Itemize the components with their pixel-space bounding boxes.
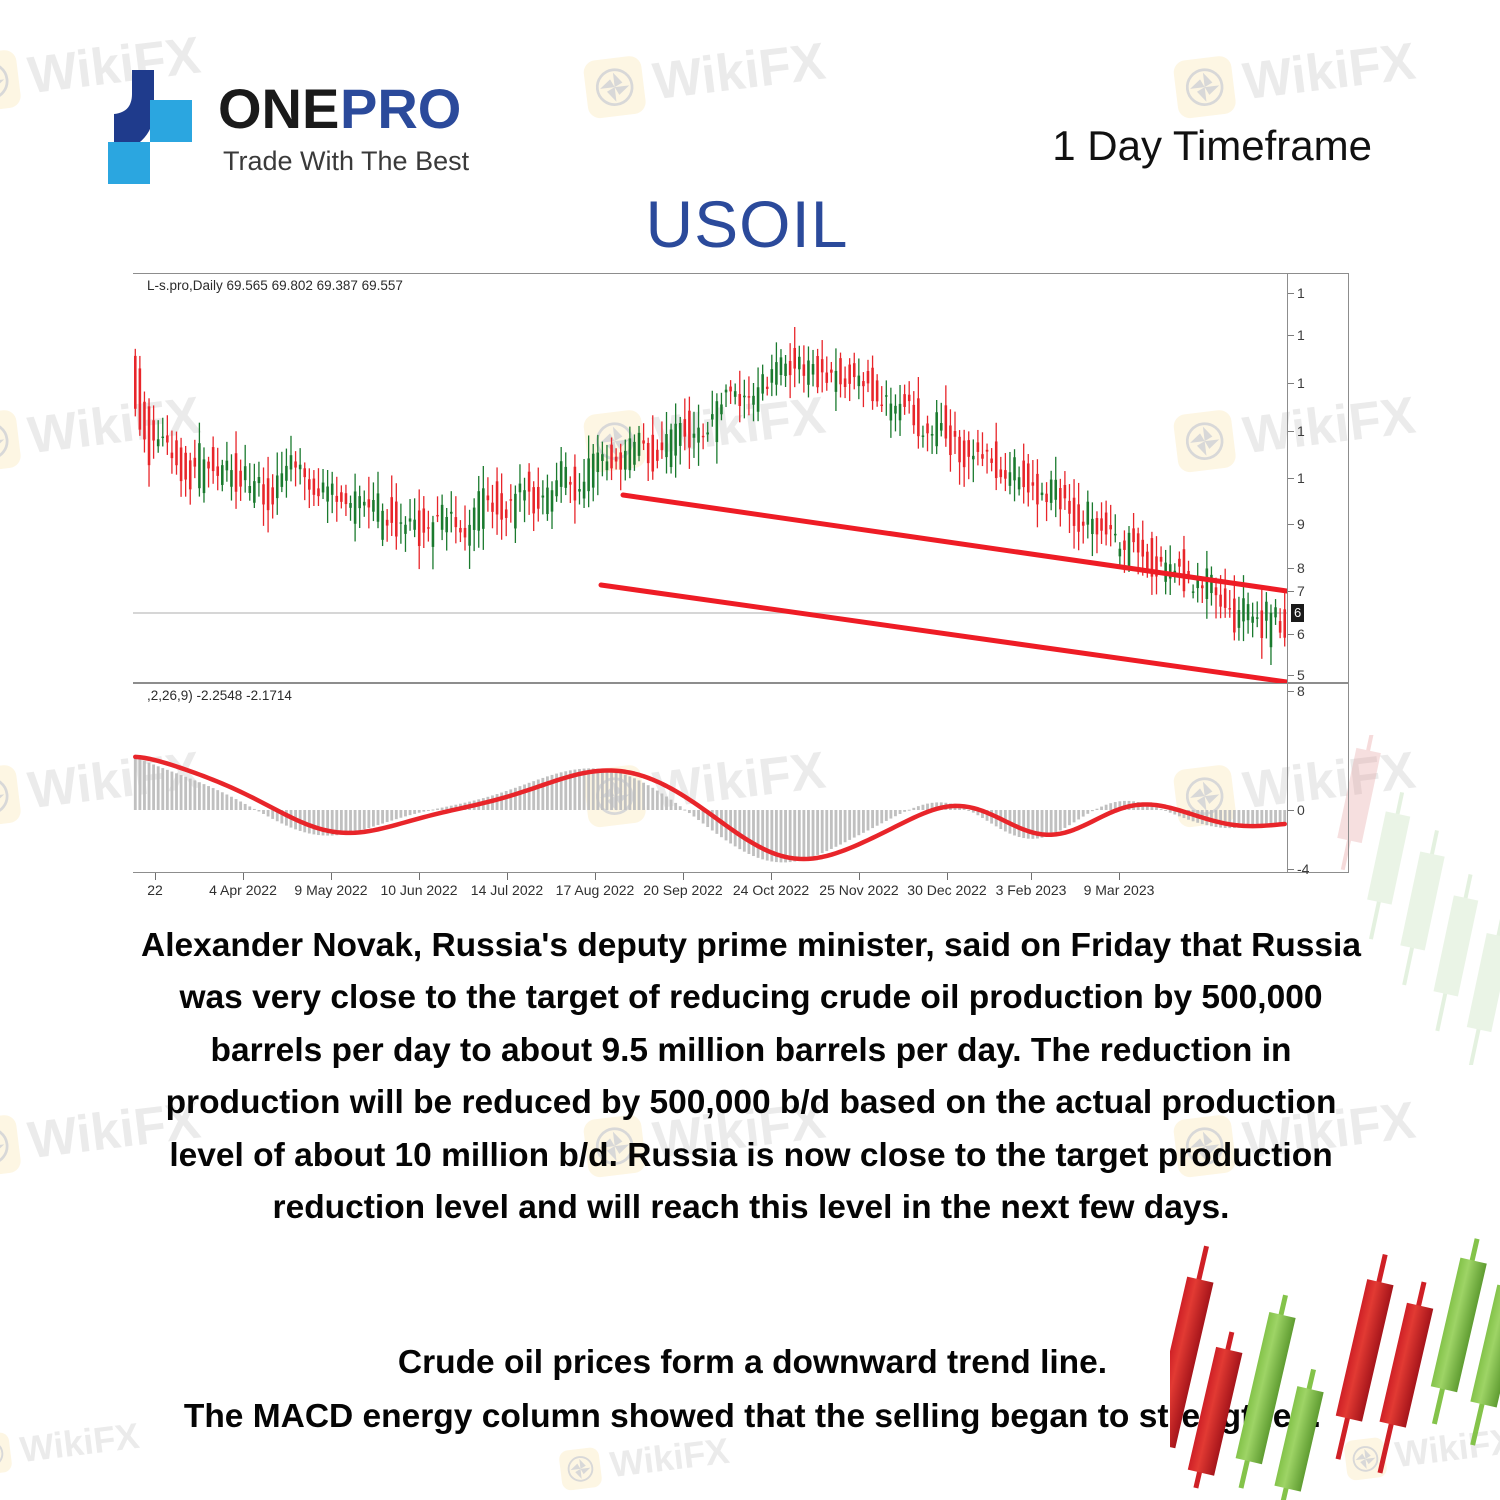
wikifx-badge-icon	[0, 1114, 22, 1179]
price-tick-label: 1	[1297, 375, 1305, 391]
macd-tick	[1288, 810, 1294, 811]
summary-line-1: Crude oil prices form a downward trend l…	[170, 1336, 1335, 1390]
summary-block: Crude oil prices form a downward trend l…	[170, 1336, 1335, 1445]
date-tick	[331, 873, 332, 880]
news-paragraph: Alexander Novak, Russia's deputy prime m…	[140, 920, 1362, 1235]
price-tick	[1288, 524, 1294, 525]
price-pane-label: L-s.pro,Daily 69.565 69.802 69.387 69.55…	[147, 278, 403, 293]
symbol-text: USOIL	[645, 186, 848, 262]
price-plot[interactable]	[133, 273, 1287, 683]
date-label: 4 Apr 2022	[209, 882, 277, 898]
svg-text:Trade With The Best: Trade With The Best	[223, 146, 470, 176]
price-tick	[1288, 293, 1294, 294]
date-label: 9 May 2022	[294, 882, 367, 898]
wikifx-badge-icon	[0, 764, 22, 829]
date-label: 10 Jun 2022	[380, 882, 457, 898]
macd-tick-label: 0	[1297, 802, 1305, 818]
wikifx-badge-icon	[582, 55, 647, 120]
date-tick	[859, 873, 860, 880]
date-tick	[771, 873, 772, 880]
date-tick	[683, 873, 684, 880]
price-tick	[1288, 383, 1294, 384]
price-tick-label: 1	[1297, 470, 1305, 486]
onepro-logo: ONE PRO Trade With The Best	[78, 52, 478, 192]
watermark-wikifx: WikiFX	[1172, 32, 1418, 121]
macd-tick	[1288, 869, 1294, 870]
macd-pane[interactable]: ,2,26,9) -2.2548 -2.1714 8 0 -4	[133, 683, 1349, 873]
price-pane[interactable]: L-s.pro,Daily 69.565 69.802 69.387 69.55…	[133, 273, 1349, 683]
price-tick-label: 1	[1297, 327, 1305, 343]
watermark-label: WikiFX	[1393, 1420, 1500, 1476]
date-label: 14 Jul 2022	[471, 882, 543, 898]
timeframe-label: 1 Day Timeframe	[1052, 122, 1372, 170]
price-tick-label: 7	[1297, 583, 1305, 599]
macd-scale[interactable]: 8 0 -4	[1287, 683, 1349, 873]
wikifx-badge-icon	[1172, 55, 1237, 120]
price-tick	[1288, 568, 1294, 569]
price-tick	[1288, 591, 1294, 592]
price-tick	[1288, 675, 1294, 676]
macd-plot[interactable]	[133, 683, 1287, 873]
summary-line-2: The MACD energy column showed that the s…	[170, 1390, 1335, 1444]
date-tick	[243, 873, 244, 880]
price-tick-label: 5	[1297, 667, 1305, 683]
date-label: 9 Mar 2023	[1084, 882, 1155, 898]
wikifx-badge-icon	[0, 409, 22, 474]
svg-text:PRO: PRO	[340, 77, 461, 140]
date-tick	[947, 873, 948, 880]
date-label: 22	[147, 882, 163, 898]
macd-tick	[1288, 691, 1294, 692]
date-tick	[1031, 873, 1032, 880]
price-scale[interactable]: 1 1 1 1 1 9 8 7 6 6 5	[1287, 273, 1349, 683]
date-tick	[1119, 873, 1120, 880]
date-tick	[155, 873, 156, 880]
watermark-label: WikiFX	[18, 1415, 142, 1471]
current-price-flag: 6	[1291, 604, 1304, 622]
price-tick-label: 8	[1297, 560, 1305, 576]
watermark-wikifx: WikiFX	[582, 32, 828, 121]
date-label: 24 Oct 2022	[733, 882, 809, 898]
wikifx-badge-icon	[1343, 1437, 1388, 1482]
date-tick	[595, 873, 596, 880]
date-axis-rail: 22 4 Apr 2022 9 May 2022 10 Jun 2022 14 …	[133, 873, 1287, 911]
wikifx-badge-icon	[0, 1432, 13, 1477]
watermark-wikifx: WikiFX	[0, 1415, 142, 1477]
price-tick	[1288, 634, 1294, 635]
price-tick-label: 6	[1297, 626, 1305, 642]
wikifx-badge-icon	[0, 49, 22, 114]
date-label: 20 Sep 2022	[643, 882, 722, 898]
date-label: 3 Feb 2023	[996, 882, 1067, 898]
trading-chart[interactable]: L-s.pro,Daily 69.565 69.802 69.387 69.55…	[133, 273, 1349, 911]
date-axis: 22 4 Apr 2022 9 May 2022 10 Jun 2022 14 …	[133, 873, 1349, 911]
macd-pane-label: ,2,26,9) -2.2548 -2.1714	[147, 688, 292, 703]
date-tick	[419, 873, 420, 880]
svg-text:ONE: ONE	[218, 77, 339, 140]
macd-tick-label: 8	[1297, 683, 1305, 699]
price-tick	[1288, 478, 1294, 479]
price-tick-label: 1	[1297, 423, 1305, 439]
slide-root: WikiFX WikiFX WikiFX WikiFX WikiFX WikiF…	[0, 0, 1500, 1500]
date-label: 25 Nov 2022	[819, 882, 898, 898]
watermark-label: WikiFX	[650, 32, 829, 113]
date-label: 17 Aug 2022	[556, 882, 635, 898]
price-tick-label: 1	[1297, 285, 1305, 301]
price-tick-label: 9	[1297, 516, 1305, 532]
price-tick	[1288, 431, 1294, 432]
page-title: USOIL	[0, 186, 1500, 262]
price-tick	[1288, 335, 1294, 336]
date-tick	[507, 873, 508, 880]
watermark-label: WikiFX	[1240, 32, 1419, 113]
date-label: 30 Dec 2022	[907, 882, 986, 898]
wikifx-badge-icon	[558, 1447, 603, 1492]
watermark-wikifx: WikiFX	[1343, 1420, 1500, 1482]
